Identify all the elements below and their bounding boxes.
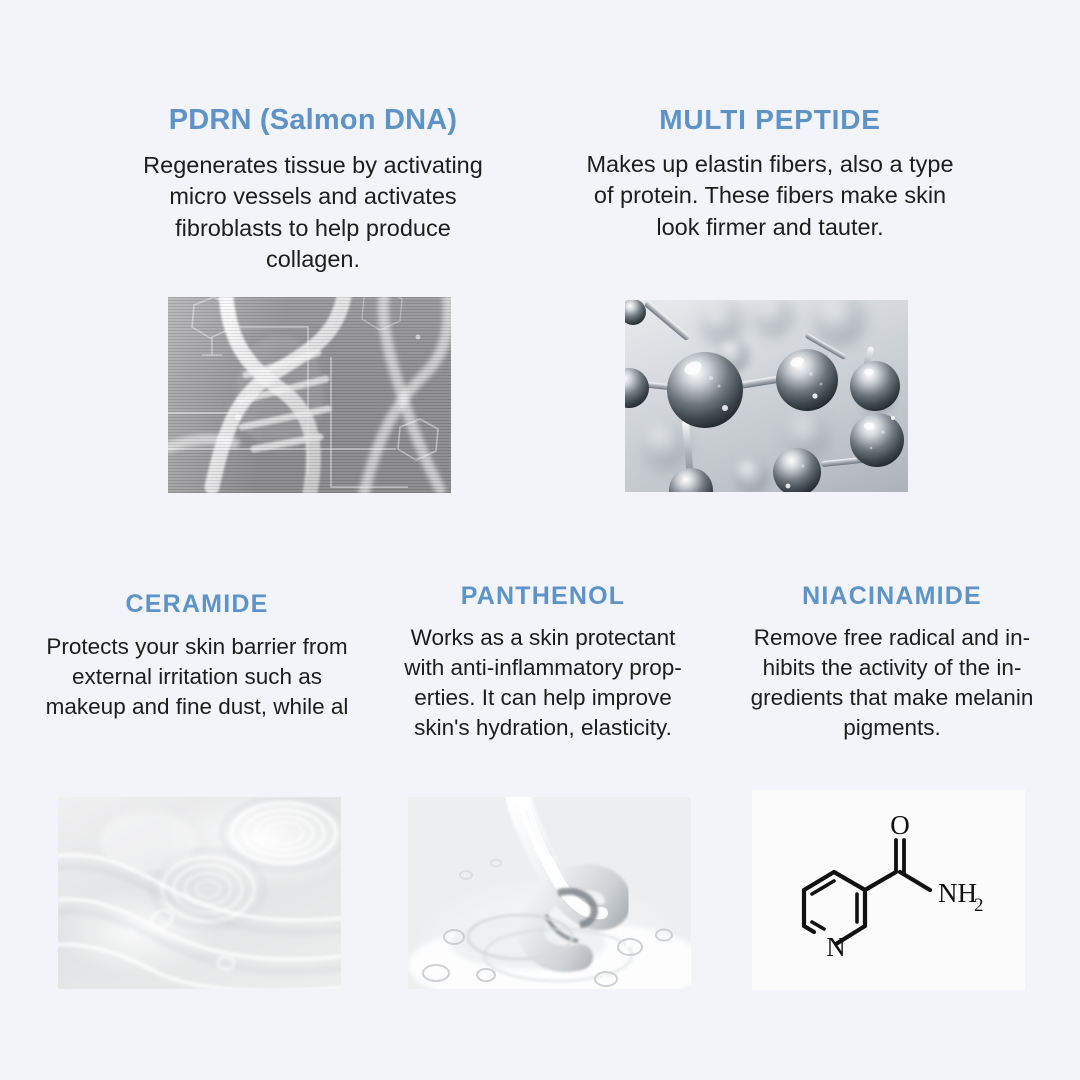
ingredient-card-panthenol: PANTHENOL Works as a skin protectant wit…	[378, 582, 708, 743]
ingredient-description-pdrn: Regenerates tissue by activating micro v…	[143, 150, 483, 275]
ingredient-heading-panthenol: PANTHENOL	[461, 582, 626, 611]
serum-pour-photo	[408, 797, 691, 989]
oxygen-label: O	[890, 810, 910, 840]
ingredient-description-ceramide: Protects your skin barrier from external…	[46, 632, 349, 722]
water-ripple-photo	[58, 797, 341, 989]
ingredient-description-panthenol: Works as a skin protectant with anti-inf…	[404, 623, 682, 743]
ingredient-description-multi-peptide: Makes up elastin fibers, also a type of …	[586, 149, 953, 243]
molecule-spheres-photo	[625, 300, 908, 492]
ingredient-heading-ceramide: CERAMIDE	[126, 590, 269, 619]
ingredient-heading-niacinamide: NIACINAMIDE	[802, 582, 982, 611]
ingredient-card-pdrn: PDRN (Salmon DNA) Regenerates tissue by …	[108, 104, 518, 275]
ingredient-infographic: PDRN (Salmon DNA) Regenerates tissue by …	[0, 0, 1080, 1080]
nitrogen-label: N	[826, 932, 846, 962]
dna-helix-illustration	[168, 297, 451, 493]
serum-pour-illustration	[408, 797, 691, 989]
amine-subscript-label: 2	[974, 895, 984, 916]
ingredient-heading-pdrn: PDRN (Salmon DNA)	[169, 104, 458, 137]
water-ripple-illustration	[58, 797, 341, 989]
ingredient-card-multi-peptide: MULTI PEPTIDE Makes up elastin fibers, a…	[560, 104, 980, 243]
chemical-structure-illustration: N O NH 2	[752, 790, 1025, 990]
ingredient-card-ceramide: CERAMIDE Protects your skin barrier from…	[12, 590, 382, 722]
ingredient-card-niacinamide: NIACINAMIDE Remove free radical and in- …	[712, 582, 1072, 743]
ingredient-heading-multi-peptide: MULTI PEPTIDE	[659, 104, 880, 136]
ingredient-description-niacinamide: Remove free radical and in- hibits the a…	[751, 623, 1034, 743]
amine-label: NH	[938, 878, 977, 908]
molecule-illustration	[625, 300, 908, 492]
dna-double-helix-photo	[168, 297, 451, 493]
niacinamide-structure-diagram: N O NH 2	[752, 790, 1025, 990]
